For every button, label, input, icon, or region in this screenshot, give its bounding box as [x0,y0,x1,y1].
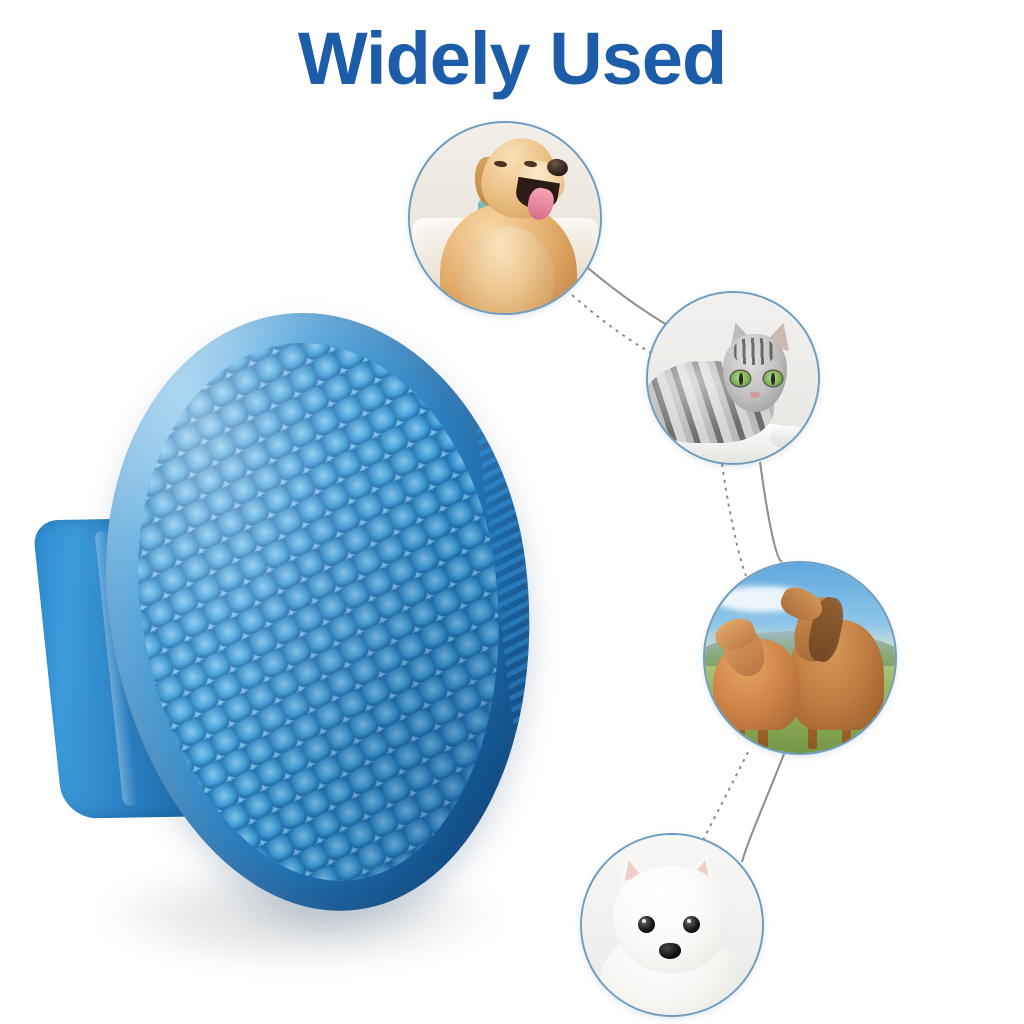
puppy-eye-left [638,916,655,933]
page-title: Widely Used [0,22,1024,96]
brush-pad [75,289,565,936]
brush-nub-field [110,322,530,901]
bubble-horse[interactable] [703,561,897,755]
product-infographic: Widely Used [0,0,1024,1024]
product-image [40,300,560,960]
bubble-dog[interactable] [408,121,602,315]
connector-dotted-cat-horse [722,464,746,576]
brush-row-shading [110,322,530,901]
bubble-cat[interactable] [646,291,820,465]
puppy-eye-right [683,916,700,933]
scene-white-pomeranian [582,835,762,1015]
bubble-puppy[interactable] [580,833,764,1017]
scene-golden-retriever [410,123,600,313]
scene-silver-tabby-cat [648,293,818,463]
cat-paw [770,426,811,450]
scene-horses-in-field [705,563,895,753]
connector-solid-cat-horse [760,462,782,562]
